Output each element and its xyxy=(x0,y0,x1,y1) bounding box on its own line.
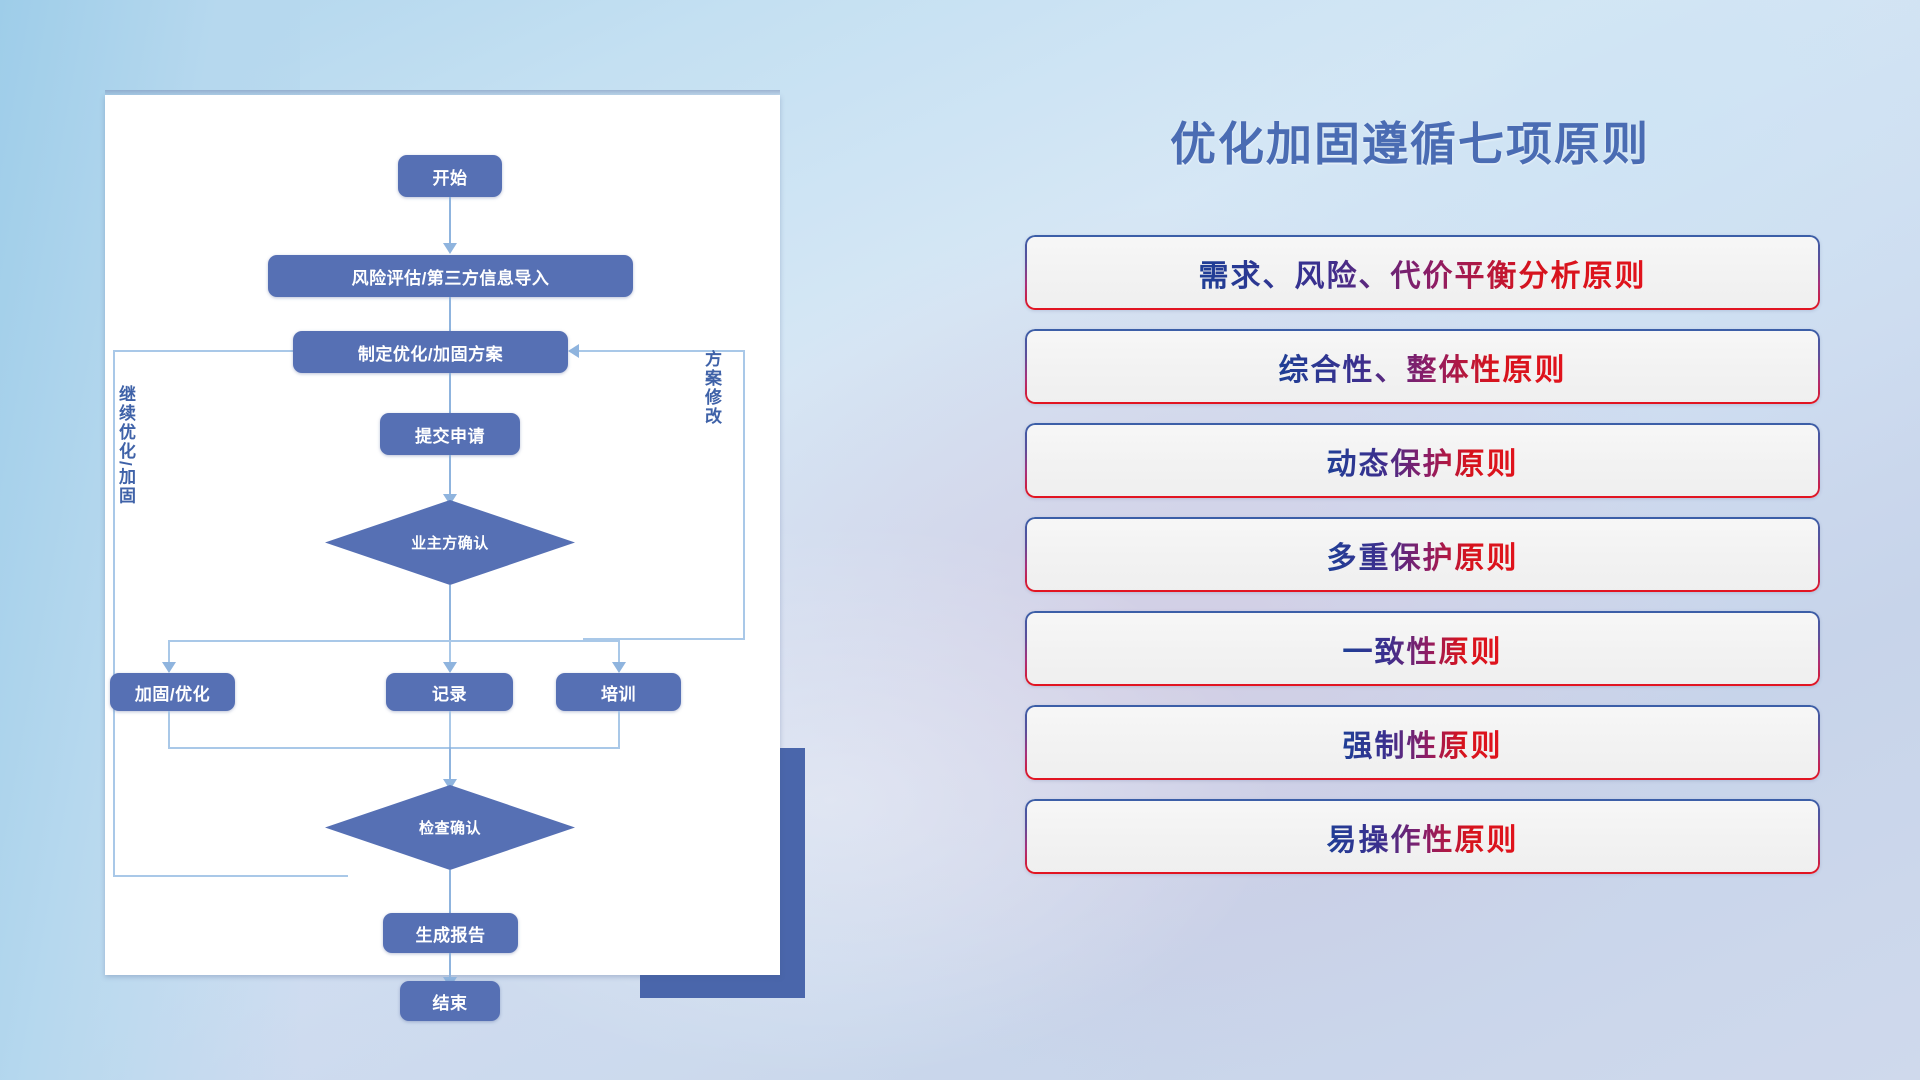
flow-node-record[interactable]: 记录 xyxy=(386,673,513,711)
principles-title: 优化加固遵循七项原则 xyxy=(1000,108,1820,174)
principle-card[interactable]: 一致性原则 xyxy=(1025,611,1820,686)
principle-label: 动态保护原则 xyxy=(1327,439,1519,483)
loop-right-vertical-line xyxy=(743,350,745,640)
flow-node-risk-assessment[interactable]: 风险评估/第三方信息导入 xyxy=(268,255,633,297)
flow-node-reinforce-optimize[interactable]: 加固/优化 xyxy=(110,673,235,711)
flow-node-generate-report[interactable]: 生成报告 xyxy=(383,913,518,953)
branch-left-arrow-icon xyxy=(162,662,176,673)
edge-start-to-risk xyxy=(449,197,451,249)
branch-horizontal-line xyxy=(168,640,620,642)
principle-card[interactable]: 需求、风险、代价平衡分析原则 xyxy=(1025,235,1820,310)
principle-card[interactable]: 易操作性原则 xyxy=(1025,799,1820,874)
principle-card[interactable]: 强制性原则 xyxy=(1025,705,1820,780)
merge-horizontal-line xyxy=(168,747,620,749)
flow-node-start[interactable]: 开始 xyxy=(398,155,502,197)
branch-right-arrow-icon xyxy=(612,662,626,673)
flow-node-check-confirm[interactable]: 检查确认 xyxy=(325,785,575,870)
principle-card[interactable]: 多重保护原则 xyxy=(1025,517,1820,592)
principle-card[interactable]: 综合性、整体性原则 xyxy=(1025,329,1820,404)
merge-right-line xyxy=(618,711,620,747)
edge-confirm-down xyxy=(449,585,451,640)
principle-label: 多重保护原则 xyxy=(1327,533,1519,577)
flowchart-panel: 继续优化/加固 方案修改 开始 风险评估/第三方信息导入 制定优化/加固方案 提… xyxy=(105,95,780,975)
flow-node-end[interactable]: 结束 xyxy=(400,981,500,1021)
principle-label: 综合性、整体性原则 xyxy=(1279,345,1567,389)
loop-left-label: 继续优化/加固 xyxy=(117,385,134,506)
principle-label: 一致性原则 xyxy=(1343,627,1503,671)
loop-left-vertical-line xyxy=(113,350,115,875)
flow-node-owner-confirm[interactable]: 业主方确认 xyxy=(325,500,575,585)
flow-node-training[interactable]: 培训 xyxy=(556,673,681,711)
loop-left-bottom-line xyxy=(113,875,348,877)
principles-list: 需求、风险、代价平衡分析原则 综合性、整体性原则 动态保护原则 多重保护原则 一… xyxy=(1025,235,1820,893)
principle-label: 需求、风险、代价平衡分析原则 xyxy=(1199,251,1647,295)
principle-label: 易操作性原则 xyxy=(1327,815,1519,859)
edge-start-arrow-icon xyxy=(443,243,457,254)
loop-right-label: 方案修改 xyxy=(703,350,720,426)
flow-node-make-plan[interactable]: 制定优化/加固方案 xyxy=(293,331,568,373)
loop-right-arrow-icon xyxy=(568,344,579,358)
principle-label: 强制性原则 xyxy=(1343,721,1503,765)
merge-mid-line xyxy=(449,711,451,747)
flow-node-submit-application[interactable]: 提交申请 xyxy=(380,413,520,455)
branch-mid-arrow-icon xyxy=(443,662,457,673)
merge-left-line xyxy=(168,711,170,747)
principle-card[interactable]: 动态保护原则 xyxy=(1025,423,1820,498)
